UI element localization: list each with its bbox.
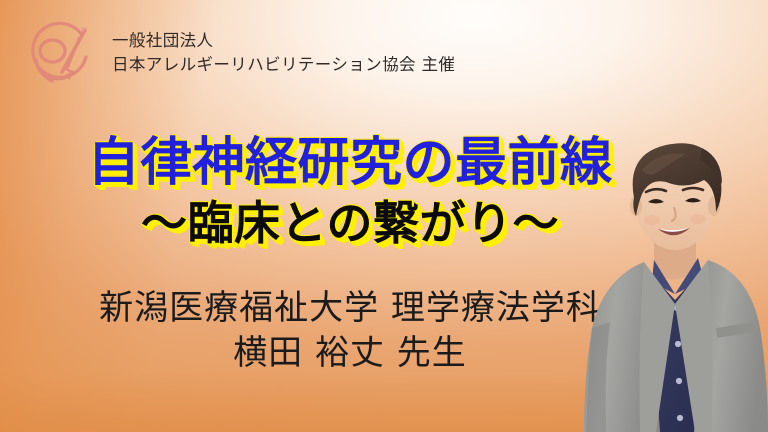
association-logo-icon <box>22 16 98 92</box>
seminar-title-slide: 一般社団法人 日本アレルギーリハビリテーション協会 主催 自律神経研究の最前線 … <box>0 0 768 432</box>
organizer-line-2: 日本アレルギーリハビリテーション協会 主催 <box>112 56 455 74</box>
organizer-line-1: 一般社団法人 <box>112 32 455 50</box>
organizer-text: 一般社団法人 日本アレルギーリハビリテーション協会 主催 <box>112 32 455 76</box>
organizer-header: 一般社団法人 日本アレルギーリハビリテーション協会 主催 <box>22 16 455 92</box>
presenter-portrait <box>582 132 768 432</box>
